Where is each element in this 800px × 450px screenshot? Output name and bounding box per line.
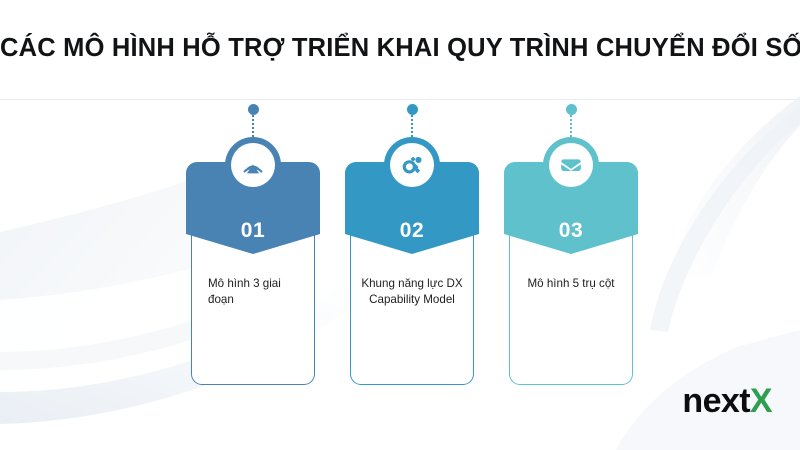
nextx-logo: nextX xyxy=(682,384,772,418)
card-number: 03 xyxy=(504,219,638,243)
card-icon-circle xyxy=(543,137,599,193)
card-02[interactable]: 02 Khung năng lực DX Capability Model xyxy=(345,104,479,385)
connector-dot-icon xyxy=(407,104,418,115)
card-01[interactable]: 01 Mô hình 3 giai đoạn xyxy=(186,104,320,385)
network-nodes-icon xyxy=(398,151,426,179)
logo-text-primary: next xyxy=(682,382,750,420)
logo-text-accent: X xyxy=(750,382,772,420)
slide-canvas: CÁC MÔ HÌNH HỖ TRỢ TRIỂN KHAI QUY TRÌNH … xyxy=(0,0,800,450)
connector-line xyxy=(252,115,254,137)
connector-line xyxy=(411,115,413,137)
card-icon-circle xyxy=(384,137,440,193)
card-caption: Khung năng lực DX Capability Model xyxy=(357,276,467,308)
envelope-icon xyxy=(557,151,585,179)
page-title: CÁC MÔ HÌNH HỖ TRỢ TRIỂN KHAI QUY TRÌNH … xyxy=(0,34,800,63)
card-number: 01 xyxy=(186,219,320,243)
card-caption: Mô hình 5 trụ cột xyxy=(516,276,626,292)
broadcast-antenna-icon xyxy=(239,151,267,179)
connector-line xyxy=(570,115,572,137)
card-caption: Mô hình 3 giai đoạn xyxy=(198,276,308,308)
cards-row: 01 Mô hình 3 giai đoạn xyxy=(186,104,638,389)
header-divider xyxy=(0,99,800,100)
card-icon-circle xyxy=(225,137,281,193)
card-03[interactable]: 03 Mô hình 5 trụ cột xyxy=(504,104,638,385)
connector-dot-icon xyxy=(566,104,577,115)
connector-dot-icon xyxy=(248,104,259,115)
card-number: 02 xyxy=(345,219,479,243)
